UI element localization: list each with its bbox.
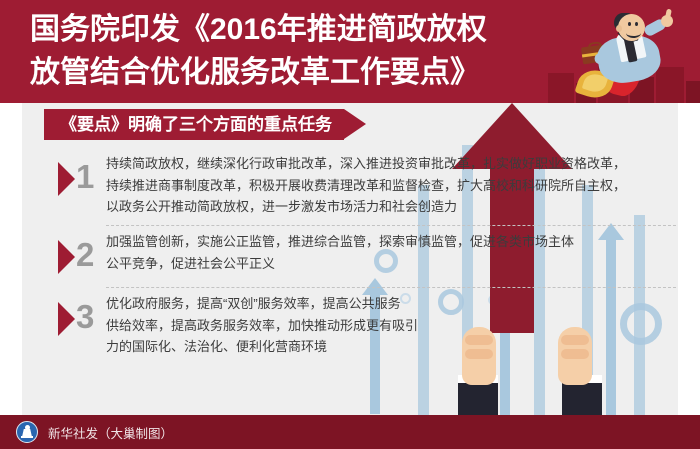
item-number: 2 xyxy=(76,235,94,275)
item-text-line: 公平竞争，促进社会公平正义 xyxy=(106,253,700,275)
header-banner: 国务院印发《2016年推进简政放权 放管结合优化服务改革工作要点》 xyxy=(0,0,700,103)
list-item: 2 加强监管创新，实施公正监管，推进综合监管，探索审慎监管，促进各类市场主体 公… xyxy=(44,225,700,287)
content-area: 《要点》明确了三个方面的重点任务 1 持续简政放权，继续深化行政审批改革，深入推… xyxy=(0,103,700,415)
item-text: 加强监管创新，实施公正监管，推进综合监管，探索审慎监管，促进各类市场主体 公平竞… xyxy=(106,231,700,274)
businessman-rocket-icon xyxy=(556,4,696,103)
item-text: 优化政府服务，提高“双创”服务效率，提高公共服务 供给效率，提高政务服务效率，加… xyxy=(106,293,700,358)
content-panel: 《要点》明确了三个方面的重点任务 1 持续简政放权，继续深化行政审批改革，深入推… xyxy=(22,103,678,415)
infographic-poster: 国务院印发《2016年推进简政放权 放管结合优化服务改革工作要点》 xyxy=(0,0,700,449)
item-text-line: 持续推进商事制度改革，积极开展收费清理改革和监督检查，扩大高校和科研院所自主权， xyxy=(106,175,700,197)
section-banner-label: 《要点》明确了三个方面的重点任务 xyxy=(60,109,332,140)
triangle-bullet-icon xyxy=(58,240,75,274)
item-text-line: 优化政府服务，提高“双创”服务效率，提高公共服务 xyxy=(106,293,700,315)
section-banner-arrow xyxy=(344,109,366,139)
xinhua-logo-icon xyxy=(16,421,38,443)
item-text: 持续简政放权，继续深化行政审批改革，深入推进投资审批改革，扎实做好职业资格改革，… xyxy=(106,153,700,218)
triangle-bullet-icon xyxy=(58,302,75,336)
item-text-line: 供给效率，提高政务服务效率，加快推动形成更有吸引 xyxy=(106,315,700,337)
item-text-line: 加强监管创新，实施公正监管，推进综合监管，探索审慎监管，促进各类市场主体 xyxy=(106,231,700,253)
page-title-line-2: 放管结合优化服务改革工作要点》 xyxy=(30,51,550,94)
list-item: 1 持续简政放权，继续深化行政审批改革，深入推进投资审批改革，扎实做好职业资格改… xyxy=(44,147,700,225)
task-list: 1 持续简政放权，继续深化行政审批改革，深入推进投资审批改革，扎实做好职业资格改… xyxy=(44,147,700,411)
item-text-line: 持续简政放权，继续深化行政审批改革，深入推进投资审批改革，扎实做好职业资格改革， xyxy=(106,153,700,175)
item-marker: 3 xyxy=(58,299,104,343)
footer-bar: 新华社发（大巢制图） xyxy=(0,415,700,449)
item-text-line: 以政务公开推动简政放权，进一步激发市场活力和社会创造力 xyxy=(106,196,700,218)
item-number: 3 xyxy=(76,297,94,337)
item-text-line: 力的国际化、法治化、便利化营商环境 xyxy=(106,336,700,358)
footer-credit: 新华社发（大巢制图） xyxy=(48,423,173,442)
triangle-bullet-icon xyxy=(58,162,75,196)
list-item: 3 优化政府服务，提高“双创”服务效率，提高公共服务 供给效率，提高政务服务效率… xyxy=(44,287,700,369)
item-marker: 1 xyxy=(58,159,104,203)
page-title: 国务院印发《2016年推进简政放权 放管结合优化服务改革工作要点》 xyxy=(30,8,550,94)
page-title-line-1: 国务院印发《2016年推进简政放权 xyxy=(30,8,550,51)
item-number: 1 xyxy=(76,157,94,197)
item-marker: 2 xyxy=(58,237,104,281)
